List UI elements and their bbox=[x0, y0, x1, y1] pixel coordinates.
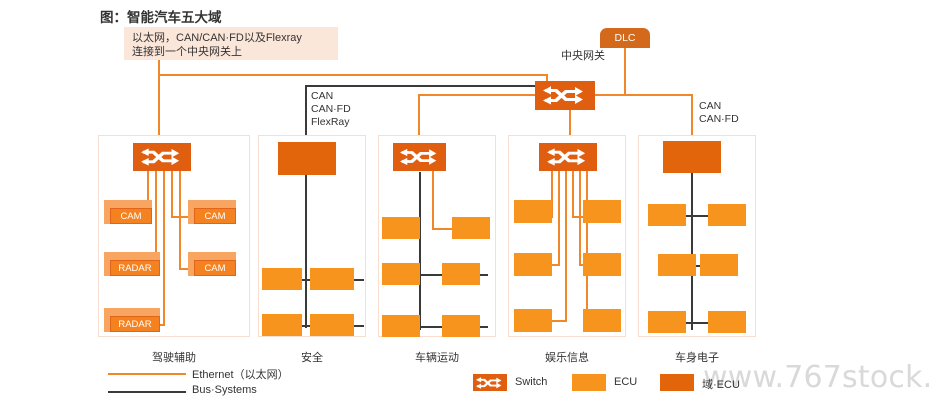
diagram-canvas: www.767stock.com 图：智能汽车五大域 以太网，CAN/CAN·F… bbox=[0, 0, 932, 404]
ecu-infotainment-6[interactable] bbox=[583, 309, 621, 332]
ecu-vehicle-motion-1[interactable] bbox=[382, 217, 420, 239]
ecu-safety-2[interactable] bbox=[310, 268, 354, 290]
domain-ecu-safety[interactable] bbox=[278, 142, 336, 175]
dlc-connector[interactable]: DLC bbox=[600, 28, 650, 48]
ecu-safety-3[interactable] bbox=[262, 314, 302, 336]
ecu-infotainment-2[interactable] bbox=[583, 200, 621, 223]
ecu-vehicle-motion-6[interactable] bbox=[442, 315, 480, 337]
eth-p4-r3-v bbox=[586, 170, 588, 322]
bus-label-right-line1: CAN bbox=[699, 100, 739, 113]
sensor-cam-1[interactable]: CAM bbox=[104, 200, 152, 224]
eth-p4-r2-v bbox=[579, 170, 581, 266]
ecu-body-5[interactable] bbox=[648, 311, 686, 333]
eth-drop-panel1 bbox=[158, 74, 160, 135]
sensor-label: CAM bbox=[194, 260, 236, 276]
dlc-label: DLC bbox=[614, 32, 635, 44]
eth-p1-r2-v bbox=[179, 170, 181, 270]
bus-label-left: CAN CAN·FD FlexRay bbox=[311, 90, 351, 129]
legend-ecu-swatch bbox=[572, 374, 606, 391]
ecu-vehicle-motion-5[interactable] bbox=[382, 315, 420, 337]
legend-ethernet-line bbox=[108, 373, 186, 375]
bus-label-right-line2: CAN·FD bbox=[699, 113, 739, 126]
gateway-label: 中央网关 bbox=[538, 47, 628, 63]
eth-drop-panel4 bbox=[569, 110, 571, 135]
switch-icon bbox=[141, 147, 183, 167]
domain-label-safety: 安全 bbox=[258, 349, 366, 365]
eth-branch-panel5-vertical bbox=[691, 94, 693, 135]
sensor-label: RADAR bbox=[110, 316, 160, 332]
eth-branch-panel3-horizontal bbox=[418, 94, 548, 96]
bus-label-left-line3: FlexRay bbox=[311, 116, 351, 129]
ecu-vehicle-motion-3[interactable] bbox=[382, 263, 420, 285]
note-line-1: 以太网，CAN/CAN·FD以及Flexray bbox=[132, 31, 330, 45]
legend-domain-ecu-swatch bbox=[660, 374, 694, 391]
panel-switch-infotainment[interactable] bbox=[539, 143, 597, 171]
legend-bus-label: Bus·Systems bbox=[192, 384, 257, 396]
bus-p5-spine bbox=[691, 172, 693, 330]
domain-label-driver-assistance: 驾驶辅助 bbox=[98, 349, 250, 365]
switch-icon bbox=[547, 147, 589, 167]
switch-icon bbox=[476, 376, 504, 390]
ecu-body-3[interactable] bbox=[658, 254, 696, 276]
domain-label-infotainment: 娱乐信息 bbox=[508, 349, 626, 365]
bus-trunk-horizontal bbox=[305, 85, 545, 87]
sensor-label: RADAR bbox=[110, 260, 160, 276]
figure-title: 图：智能汽车五大域 bbox=[100, 6, 222, 26]
eth-trunk-top-horizontal bbox=[158, 74, 548, 76]
legend-ethernet-label: Ethernet（以太网） bbox=[192, 366, 289, 382]
bus-label-right: CAN CAN·FD bbox=[699, 100, 739, 126]
panel-switch-driver-assistance[interactable] bbox=[133, 143, 191, 171]
domain-label-body-electronics: 车身电子 bbox=[638, 349, 756, 365]
eth-p4-l3-v bbox=[565, 170, 567, 322]
sensor-radar-2[interactable]: RADAR bbox=[104, 308, 160, 332]
ecu-infotainment-1[interactable] bbox=[514, 200, 552, 223]
bus-label-left-line2: CAN·FD bbox=[311, 103, 351, 116]
ecu-body-2[interactable] bbox=[708, 204, 746, 226]
ecu-infotainment-4[interactable] bbox=[583, 253, 621, 276]
ecu-vehicle-motion-4[interactable] bbox=[442, 263, 480, 285]
domain-label-vehicle-motion: 车辆运动 bbox=[378, 349, 496, 365]
eth-p1-r1-v bbox=[171, 170, 173, 218]
legend-ecu-label: ECU bbox=[614, 376, 637, 388]
ecu-infotainment-3[interactable] bbox=[514, 253, 552, 276]
sensor-label: CAM bbox=[194, 208, 236, 224]
note-line-2: 连接到一个中央网关上 bbox=[132, 45, 330, 59]
eth-p4-r1-v bbox=[572, 170, 574, 218]
legend-domain-ecu-label: 域·ECU bbox=[702, 376, 740, 392]
central-gateway-switch[interactable] bbox=[535, 81, 595, 110]
eth-p1-l3-v bbox=[163, 170, 165, 326]
sensor-radar-1[interactable]: RADAR bbox=[104, 252, 160, 276]
legend-switch-swatch bbox=[473, 374, 507, 391]
ecu-vehicle-motion-2[interactable] bbox=[452, 217, 490, 239]
sensor-cam-2[interactable]: CAM bbox=[188, 200, 236, 224]
bus-p2-spine bbox=[305, 175, 307, 328]
eth-branch-panel3-vertical bbox=[418, 94, 420, 135]
ecu-infotainment-5[interactable] bbox=[514, 309, 552, 332]
panel-switch-vehicle-motion[interactable] bbox=[393, 143, 446, 171]
ecu-body-4[interactable] bbox=[700, 254, 738, 276]
domain-ecu-body-electronics[interactable] bbox=[663, 141, 721, 173]
ecu-body-1[interactable] bbox=[648, 204, 686, 226]
note-callout: 以太网，CAN/CAN·FD以及Flexray 连接到一个中央网关上 bbox=[124, 27, 338, 60]
eth-p3-stub-v bbox=[432, 170, 434, 230]
eth-branch-panel5-horizontal bbox=[593, 94, 693, 96]
legend-switch-label: Switch bbox=[515, 376, 547, 388]
ecu-body-6[interactable] bbox=[708, 311, 746, 333]
switch-icon bbox=[543, 85, 587, 106]
sensor-cam-3[interactable]: CAM bbox=[188, 252, 236, 276]
eth-p4-l2-v bbox=[558, 170, 560, 266]
sensor-label: CAM bbox=[110, 208, 152, 224]
legend-bus-line bbox=[108, 391, 186, 393]
bus-label-left-line1: CAN bbox=[311, 90, 351, 103]
ecu-safety-1[interactable] bbox=[262, 268, 302, 290]
bus-p3-spine bbox=[419, 172, 421, 330]
ecu-safety-4[interactable] bbox=[310, 314, 354, 336]
bus-drop-panel2 bbox=[305, 85, 307, 135]
switch-icon bbox=[400, 147, 440, 167]
